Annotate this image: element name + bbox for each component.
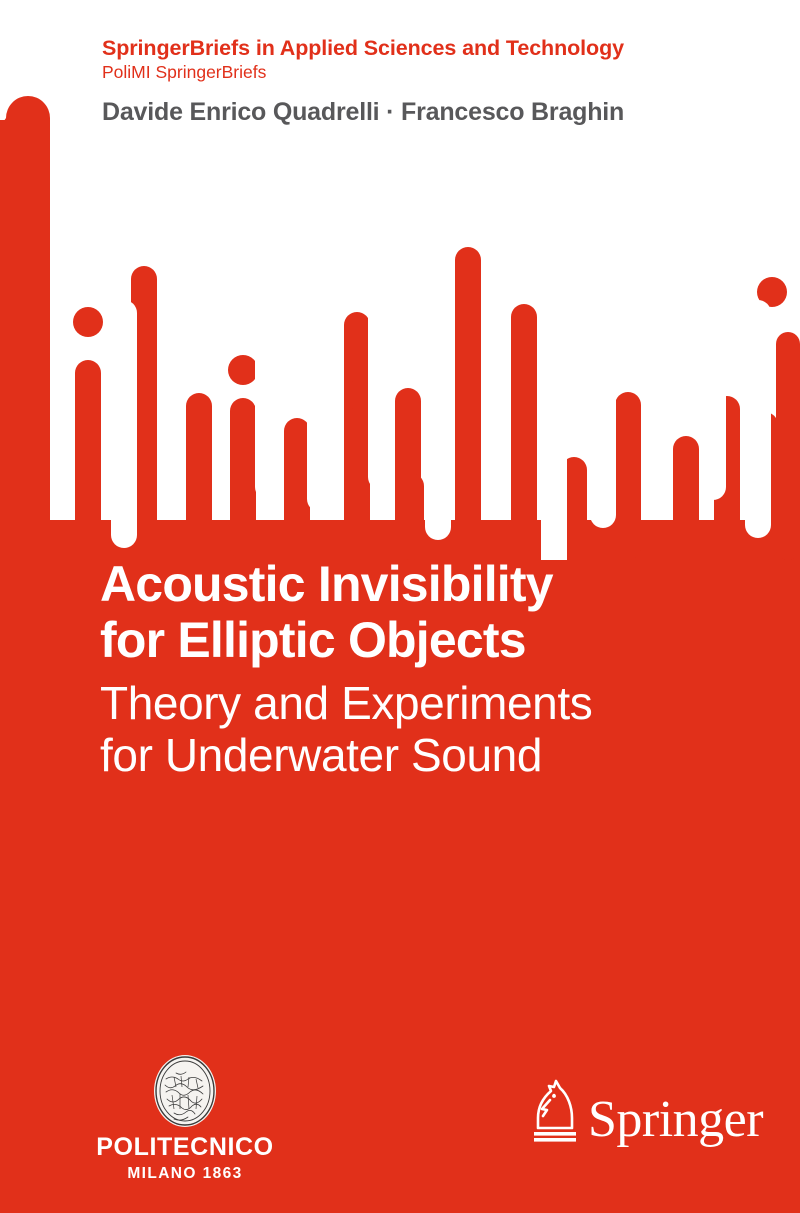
book-subtitle-line-1: Theory and Experiments [100,678,740,730]
politecnico-logo: POLITECNICO MILANO 1863 [95,1055,275,1182]
springer-logo: Springer [520,1078,763,1144]
series-title: SpringerBriefs in Applied Sciences and T… [102,36,762,60]
book-subtitle-line-2: for Underwater Sound [100,730,740,782]
book-title: Acoustic Invisibility for Elliptic Objec… [100,556,740,668]
book-title-line-2: for Elliptic Objects [100,612,740,668]
series-subtitle: PoliMI SpringerBriefs [102,62,762,84]
header-block: SpringerBriefs in Applied Sciences and T… [102,36,762,127]
authors-line: Davide Enrico Quadrelli · Francesco Brag… [102,98,762,127]
polimi-seal-icon [154,1055,216,1127]
springer-wordmark: Springer [588,1096,763,1144]
polimi-name: POLITECNICO [95,1135,275,1160]
title-block: Acoustic Invisibility for Elliptic Objec… [100,556,740,781]
book-cover: SpringerBriefs in Applied Sciences and T… [0,0,800,1213]
springer-knight-icon [520,1078,576,1144]
polimi-city: MILANO 1863 [95,1166,275,1182]
book-title-line-1: Acoustic Invisibility [100,556,740,612]
book-subtitle: Theory and Experiments for Underwater So… [100,678,740,781]
waveform-left-block [0,95,50,560]
